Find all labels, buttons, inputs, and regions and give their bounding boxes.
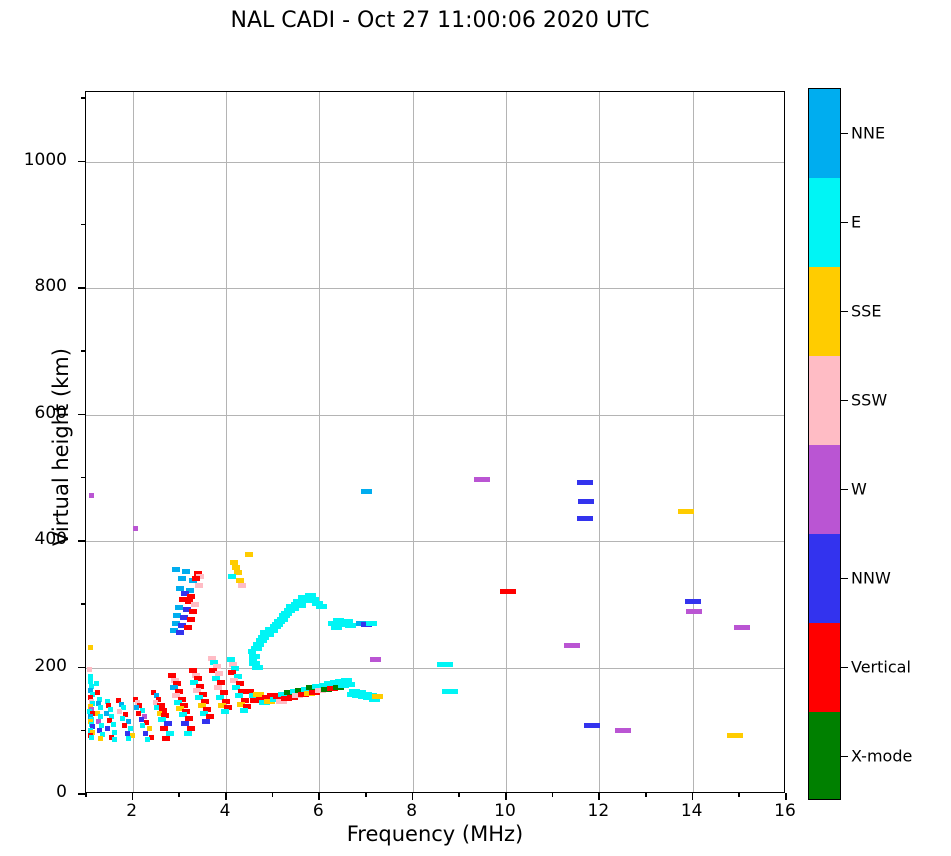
data-point bbox=[122, 723, 127, 728]
data-point bbox=[267, 628, 278, 633]
x-tick-mark-minor bbox=[738, 793, 740, 797]
colorbar-segment bbox=[809, 178, 840, 267]
colorbar-segment bbox=[809, 356, 840, 445]
data-point bbox=[176, 630, 184, 635]
data-point bbox=[117, 709, 122, 714]
data-point bbox=[500, 589, 516, 594]
x-tick-mark-minor bbox=[458, 793, 460, 797]
data-point bbox=[584, 723, 600, 728]
x-tick-mark bbox=[318, 793, 320, 800]
colorbar-tick bbox=[841, 222, 848, 223]
data-point bbox=[295, 603, 306, 608]
data-point bbox=[143, 731, 148, 736]
data-point bbox=[187, 617, 195, 622]
gridline-vertical bbox=[693, 92, 694, 792]
data-point bbox=[678, 509, 694, 514]
data-point bbox=[437, 662, 453, 667]
data-point bbox=[98, 736, 103, 741]
y-tick-mark bbox=[78, 161, 85, 163]
data-point bbox=[202, 719, 210, 724]
data-point bbox=[89, 735, 94, 740]
data-point bbox=[195, 583, 203, 588]
data-point bbox=[734, 625, 750, 630]
data-point bbox=[136, 711, 141, 716]
y-tick-label: 1000 bbox=[24, 150, 67, 170]
data-point bbox=[344, 682, 355, 687]
colorbar-label: Vertical bbox=[851, 657, 911, 676]
data-point bbox=[361, 489, 372, 494]
x-tick-mark-minor bbox=[365, 793, 367, 797]
y-tick-label: 200 bbox=[35, 656, 67, 676]
data-point bbox=[189, 609, 197, 614]
x-tick-label: 12 bbox=[568, 801, 628, 821]
x-tick-mark bbox=[505, 793, 507, 800]
data-point bbox=[564, 643, 580, 648]
x-tick-mark-minor bbox=[178, 793, 180, 797]
data-point bbox=[474, 477, 490, 482]
data-point bbox=[727, 733, 743, 738]
gridline-horizontal bbox=[86, 162, 784, 163]
x-tick-mark bbox=[692, 793, 694, 800]
data-point bbox=[111, 722, 116, 727]
colorbar-tick bbox=[841, 756, 848, 757]
gridline-vertical bbox=[599, 92, 600, 792]
data-point bbox=[221, 709, 229, 714]
colorbar-tick bbox=[841, 311, 848, 312]
data-point bbox=[182, 569, 190, 574]
x-tick-mark-minor bbox=[85, 793, 87, 797]
colorbar-tick bbox=[841, 133, 848, 134]
data-point bbox=[372, 694, 383, 699]
data-point bbox=[184, 731, 192, 736]
gridline-vertical bbox=[506, 92, 507, 792]
y-tick-mark bbox=[78, 540, 85, 542]
data-point bbox=[89, 493, 94, 498]
colorbar-tick bbox=[841, 400, 848, 401]
colorbar-tick bbox=[841, 489, 848, 490]
y-axis-title: Virtual height (km) bbox=[49, 96, 73, 798]
colorbar bbox=[808, 88, 841, 800]
data-point bbox=[95, 690, 100, 695]
data-point bbox=[112, 737, 117, 742]
data-point bbox=[442, 689, 458, 694]
x-tick-label: 10 bbox=[475, 801, 535, 821]
y-tick-label: 800 bbox=[35, 276, 67, 296]
x-tick-mark bbox=[132, 793, 134, 800]
data-point bbox=[120, 716, 125, 721]
y-tick-mark bbox=[78, 414, 85, 416]
data-point bbox=[145, 737, 150, 742]
colorbar-label: SSW bbox=[851, 390, 887, 409]
gridline-horizontal bbox=[86, 288, 784, 289]
x-tick-mark-minor bbox=[272, 793, 274, 797]
x-tick-label: 6 bbox=[288, 801, 348, 821]
plot-canvas bbox=[86, 92, 784, 792]
x-axis-title: Frequency (MHz) bbox=[85, 822, 785, 846]
colorbar-label: W bbox=[851, 479, 867, 498]
x-tick-label: 16 bbox=[755, 801, 815, 821]
data-point bbox=[162, 736, 170, 741]
colorbar-tick bbox=[841, 578, 848, 579]
colorbar-segment bbox=[809, 89, 840, 178]
colorbar-label: X-mode bbox=[851, 746, 912, 765]
data-point bbox=[187, 594, 195, 599]
data-point bbox=[316, 604, 327, 609]
data-point bbox=[105, 726, 110, 731]
colorbar-label: NNE bbox=[851, 123, 885, 142]
x-tick-mark bbox=[598, 793, 600, 800]
x-tick-mark-minor bbox=[645, 793, 647, 797]
data-point bbox=[370, 657, 381, 662]
data-point bbox=[139, 717, 144, 722]
data-point bbox=[87, 667, 92, 672]
gridline-vertical bbox=[133, 92, 134, 792]
y-tick-label: 600 bbox=[35, 403, 67, 423]
data-point bbox=[126, 736, 131, 741]
x-tick-label: 8 bbox=[382, 801, 442, 821]
data-point bbox=[577, 480, 593, 485]
y-tick-mark bbox=[78, 667, 85, 669]
data-point bbox=[191, 602, 199, 607]
colorbar-segment bbox=[809, 445, 840, 534]
x-tick-mark bbox=[225, 793, 227, 800]
data-point bbox=[178, 576, 186, 581]
colorbar-label: SSE bbox=[851, 301, 881, 320]
ionogram-figure: NAL CADI - Oct 27 11:00:06 2020 UTC Virt… bbox=[0, 0, 951, 856]
data-point bbox=[615, 728, 631, 733]
x-tick-mark bbox=[785, 793, 787, 800]
colorbar-tick bbox=[841, 667, 848, 668]
page-title: NAL CADI - Oct 27 11:00:06 2020 UTC bbox=[0, 8, 880, 33]
colorbar-segment bbox=[809, 534, 840, 623]
data-point bbox=[685, 599, 701, 604]
x-tick-label: 14 bbox=[662, 801, 722, 821]
data-point bbox=[192, 576, 200, 581]
data-point bbox=[245, 552, 253, 557]
colorbar-segment bbox=[809, 623, 840, 712]
data-point bbox=[134, 705, 139, 710]
x-tick-label: 2 bbox=[102, 801, 162, 821]
data-point bbox=[184, 625, 192, 630]
gridline-horizontal bbox=[86, 415, 784, 416]
gridline-vertical bbox=[413, 92, 414, 792]
x-tick-label: 4 bbox=[195, 801, 255, 821]
colorbar-segment bbox=[809, 267, 840, 356]
data-point bbox=[345, 623, 356, 628]
data-point bbox=[238, 583, 246, 588]
y-tick-mark bbox=[78, 793, 85, 795]
x-tick-mark bbox=[412, 793, 414, 800]
y-tick-label: 0 bbox=[56, 782, 67, 802]
data-point bbox=[366, 621, 377, 626]
data-point bbox=[228, 574, 236, 579]
data-point bbox=[577, 516, 593, 521]
y-tick-mark bbox=[78, 287, 85, 289]
colorbar-label: NNW bbox=[851, 568, 891, 587]
gridline-vertical bbox=[226, 92, 227, 792]
data-point bbox=[252, 665, 263, 670]
data-point bbox=[172, 567, 180, 572]
data-point bbox=[240, 708, 248, 713]
data-point bbox=[147, 726, 152, 731]
y-tick-label: 400 bbox=[35, 529, 67, 549]
data-point bbox=[578, 499, 594, 504]
data-point bbox=[133, 526, 138, 531]
data-point bbox=[686, 609, 702, 614]
data-point bbox=[140, 723, 145, 728]
data-point bbox=[88, 645, 93, 650]
x-tick-mark-minor bbox=[552, 793, 554, 797]
data-point bbox=[94, 681, 99, 686]
plot-area bbox=[85, 91, 785, 793]
colorbar-label: E bbox=[851, 212, 861, 231]
gridline-horizontal bbox=[86, 541, 784, 542]
colorbar-segment bbox=[809, 712, 840, 800]
